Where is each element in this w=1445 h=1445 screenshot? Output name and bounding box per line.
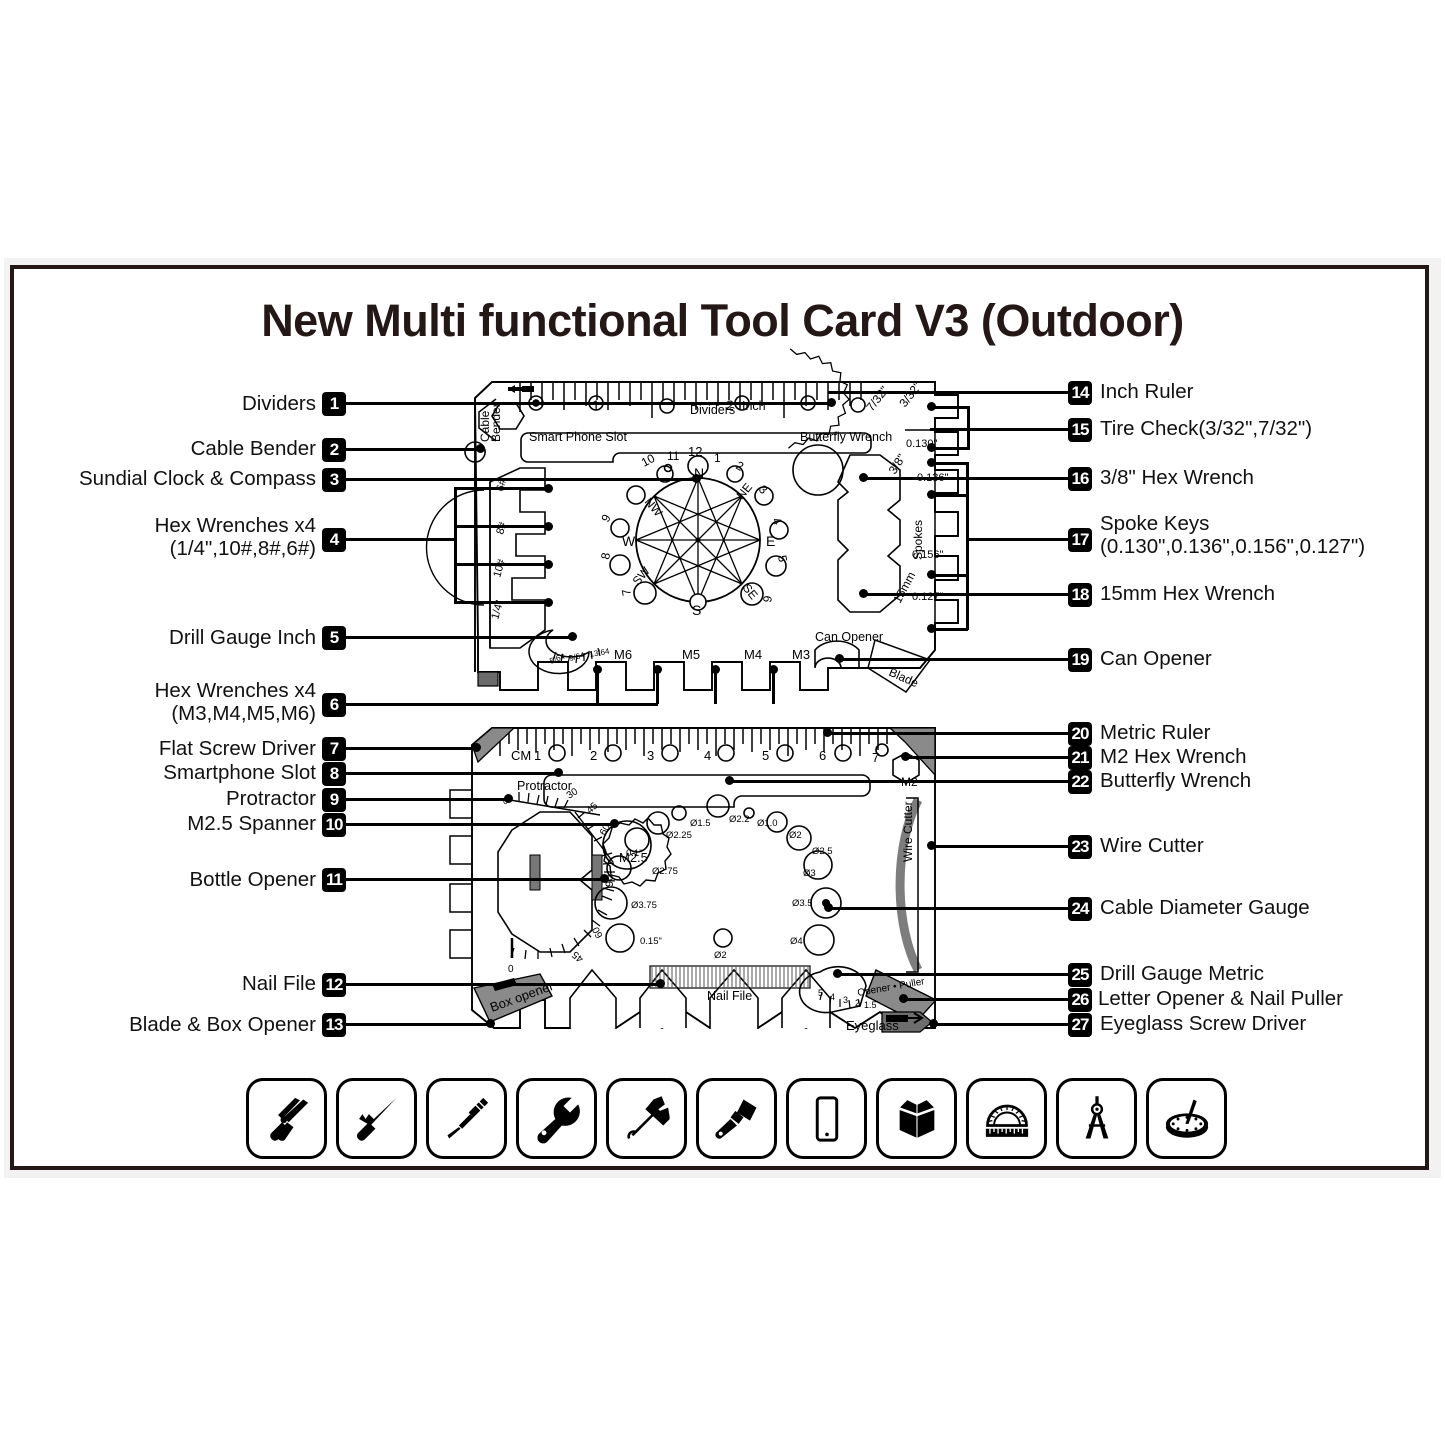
callout-label-15: Tire Check(3/32",7/32") bbox=[1100, 418, 1312, 441]
callout-label-19: Can Opener bbox=[1100, 648, 1212, 671]
callout-badge-14[interactable]: 14 bbox=[1068, 381, 1092, 405]
leader-line-6 bbox=[346, 703, 658, 706]
wrench-icon bbox=[531, 1093, 583, 1145]
icon-screwdriver bbox=[426, 1078, 507, 1159]
callout-label-5: Drill Gauge Inch bbox=[60, 627, 316, 650]
callout-badge-5[interactable]: 5 bbox=[322, 626, 346, 650]
icon-sundial bbox=[1146, 1078, 1227, 1159]
leader-dot-17c bbox=[927, 570, 936, 579]
callout-label-13: Blade & Box Opener bbox=[40, 1014, 316, 1037]
icon-wrench bbox=[516, 1078, 597, 1159]
tool-card-infographic: New Multi functional Tool Card V3 (Outdo… bbox=[0, 0, 1445, 1445]
leader-dot-17a bbox=[927, 458, 936, 467]
leader-dot-25 bbox=[833, 969, 842, 978]
leader-dot-24 bbox=[824, 903, 833, 912]
callout-badge-26[interactable]: 26 bbox=[1068, 988, 1092, 1012]
icon-pliers bbox=[246, 1078, 327, 1159]
callout-badge-27[interactable]: 27 bbox=[1068, 1013, 1092, 1037]
callout-label-4: Hex Wrenches x4 (1/4",10#,8#,6#) bbox=[40, 515, 316, 561]
leader-dot-6b bbox=[653, 665, 662, 674]
dividers-icon bbox=[1071, 1093, 1123, 1145]
leader-line-1 bbox=[346, 402, 830, 405]
callout-badge-22[interactable]: 22 bbox=[1068, 770, 1092, 794]
leader-dot-8 bbox=[554, 768, 563, 777]
leader-dot-4c bbox=[544, 560, 553, 569]
leader-line-4 bbox=[346, 538, 456, 541]
leader-dot-27 bbox=[929, 1019, 938, 1028]
leader-dot-15b bbox=[927, 443, 936, 452]
callout-label-3: Sundial Clock & Compass bbox=[40, 468, 316, 491]
leader-dot-16 bbox=[859, 473, 868, 482]
callout-label-24: Cable Diameter Gauge bbox=[1100, 897, 1310, 920]
leader-line-10 bbox=[346, 823, 614, 826]
leader-dot-20 bbox=[823, 728, 832, 737]
callout-label-20: Metric Ruler bbox=[1100, 722, 1211, 745]
leader-line-17 bbox=[968, 538, 1068, 541]
leader-line-18 bbox=[862, 593, 1068, 596]
leader-dot-17b bbox=[927, 490, 936, 499]
leader-line-15b bbox=[930, 447, 970, 450]
callout-label-11: Bottle Opener bbox=[60, 869, 316, 892]
leader-line-24 bbox=[828, 907, 1068, 910]
knife-icon bbox=[351, 1093, 403, 1145]
callout-badge-18[interactable]: 18 bbox=[1068, 583, 1092, 607]
leader-line-4a bbox=[454, 487, 552, 490]
leader-line-4d bbox=[454, 601, 552, 604]
leader-line-26 bbox=[902, 998, 1068, 1001]
callout-badge-6[interactable]: 6 bbox=[322, 693, 346, 717]
leader-dot-6a bbox=[593, 665, 602, 674]
leader-dot-15a bbox=[927, 402, 936, 411]
callout-label-18: 15mm Hex Wrench bbox=[1100, 583, 1275, 606]
leader-dot-26 bbox=[899, 994, 908, 1003]
icon-open-box bbox=[876, 1078, 957, 1159]
screwdriver-wrench-icon bbox=[621, 1093, 673, 1145]
leader-dot-18 bbox=[859, 589, 868, 598]
leader-line-21 bbox=[904, 756, 1068, 759]
pliers-icon bbox=[261, 1093, 313, 1145]
leader-line-12 bbox=[346, 983, 660, 986]
icon-protractor bbox=[966, 1078, 1047, 1159]
leader-line-8 bbox=[346, 772, 558, 775]
callout-badge-13[interactable]: 13 bbox=[322, 1013, 346, 1037]
callout-label-17: Spoke Keys (0.130",0.136",0.156",0.127") bbox=[1100, 513, 1365, 559]
callout-badge-2[interactable]: 2 bbox=[322, 438, 346, 462]
callout-badge-16[interactable]: 16 bbox=[1068, 467, 1092, 491]
protractor-icon bbox=[981, 1093, 1033, 1145]
icon-screwdriver-wrench bbox=[606, 1078, 687, 1159]
leader-line-5 bbox=[346, 636, 572, 639]
leader-line-11 bbox=[346, 878, 604, 881]
callout-badge-10[interactable]: 10 bbox=[322, 813, 346, 837]
callout-badge-11[interactable]: 11 bbox=[322, 868, 346, 892]
icon-flashlight bbox=[696, 1078, 777, 1159]
callout-label-26: Letter Opener & Nail Puller bbox=[1098, 988, 1343, 1011]
callout-label-2: Cable Bender bbox=[60, 438, 316, 461]
leader-dot-6d bbox=[769, 665, 778, 674]
callout-badge-4[interactable]: 4 bbox=[322, 528, 346, 552]
callout-badge-12[interactable]: 12 bbox=[322, 973, 346, 997]
leader-line-4b bbox=[454, 525, 552, 528]
callout-label-1: Dividers bbox=[60, 393, 316, 416]
page-title: New Multi functional Tool Card V3 (Outdo… bbox=[0, 295, 1445, 347]
leader-dot-13 bbox=[486, 1019, 495, 1028]
callout-badge-9[interactable]: 9 bbox=[322, 788, 346, 812]
leader-line-2 bbox=[346, 448, 480, 451]
callout-badge-23[interactable]: 23 bbox=[1068, 835, 1092, 859]
leader-line-25 bbox=[836, 973, 1068, 976]
leader-dot-19 bbox=[835, 654, 844, 663]
callout-badge-19[interactable]: 19 bbox=[1068, 648, 1092, 672]
leader-dot-17d bbox=[927, 624, 936, 633]
open-box-icon bbox=[891, 1093, 943, 1145]
callout-badge-17[interactable]: 17 bbox=[1068, 528, 1092, 552]
callout-label-7: Flat Screw Driver bbox=[60, 738, 316, 761]
leader-line-16 bbox=[862, 477, 1068, 480]
callout-label-10: M2.5 Spanner bbox=[60, 813, 316, 836]
callout-label-6: Hex Wrenches x4 (M3,M4,M5,M6) bbox=[40, 680, 316, 726]
callout-badge-7[interactable]: 7 bbox=[322, 737, 346, 761]
callout-label-22: Butterfly Wrench bbox=[1100, 770, 1251, 793]
screwdriver-icon bbox=[441, 1093, 493, 1145]
sundial-icon bbox=[1161, 1093, 1213, 1145]
leader-dot-2 bbox=[476, 444, 485, 453]
leader-line-4-vert bbox=[454, 487, 457, 603]
leader-line-17v bbox=[966, 462, 969, 630]
callout-label-23: Wire Cutter bbox=[1100, 835, 1204, 858]
icon-knife bbox=[336, 1078, 417, 1159]
leader-dot-22 bbox=[725, 776, 734, 785]
leader-line-22 bbox=[728, 780, 1068, 783]
callout-badge-21[interactable]: 21 bbox=[1068, 746, 1092, 770]
icon-dividers bbox=[1056, 1078, 1137, 1159]
callout-label-14: Inch Ruler bbox=[1100, 381, 1193, 404]
leader-dot-6c bbox=[711, 665, 720, 674]
leader-dot-3 bbox=[692, 474, 701, 483]
leader-line-23 bbox=[930, 845, 1068, 848]
leader-line-15 bbox=[930, 428, 1068, 431]
leader-line-9 bbox=[346, 798, 508, 801]
leader-line-15a bbox=[930, 406, 970, 409]
leader-line-13 bbox=[346, 1023, 490, 1026]
leader-dot-9 bbox=[504, 794, 513, 803]
callout-label-27: Eyeglass Screw Driver bbox=[1100, 1013, 1306, 1036]
leader-line-20 bbox=[826, 732, 1068, 735]
leader-dot-11 bbox=[600, 874, 609, 883]
callout-label-9: Protractor bbox=[60, 788, 316, 811]
leader-line-14 bbox=[828, 391, 1068, 394]
smartphone-icon bbox=[801, 1093, 853, 1145]
callout-badge-3[interactable]: 3 bbox=[322, 468, 346, 492]
leader-dot-7 bbox=[472, 743, 481, 752]
leader-dot-12 bbox=[656, 979, 665, 988]
icon-smartphone bbox=[786, 1078, 867, 1159]
leader-line-3 bbox=[346, 478, 696, 481]
callout-label-16: 3/8" Hex Wrench bbox=[1100, 467, 1254, 490]
callout-label-8: Smartphone Slot bbox=[60, 762, 316, 785]
leader-dot-1 bbox=[827, 398, 836, 407]
leader-dot-23 bbox=[927, 841, 936, 850]
callout-label-12: Nail File bbox=[60, 973, 316, 996]
leader-dot-4d bbox=[544, 598, 553, 607]
leader-line-27 bbox=[932, 1023, 1068, 1026]
flashlight-icon bbox=[711, 1093, 763, 1145]
leader-dot-4a bbox=[544, 484, 553, 493]
leader-dot-10 bbox=[610, 819, 619, 828]
callout-badge-25[interactable]: 25 bbox=[1068, 963, 1092, 987]
callout-badge-1[interactable]: 1 bbox=[322, 392, 346, 416]
leader-dot-5 bbox=[568, 632, 577, 641]
callout-badge-20[interactable]: 20 bbox=[1068, 722, 1092, 746]
leader-dot-21 bbox=[901, 752, 910, 761]
leader-line-7 bbox=[346, 747, 476, 750]
callout-badge-15[interactable]: 15 bbox=[1068, 418, 1092, 442]
leader-line-19 bbox=[838, 658, 1068, 661]
leader-line-4c bbox=[454, 563, 552, 566]
callout-label-21: M2 Hex Wrench bbox=[1100, 746, 1247, 769]
callout-label-25: Drill Gauge Metric bbox=[1100, 963, 1264, 986]
leader-dot-4b bbox=[544, 522, 553, 531]
callout-badge-24[interactable]: 24 bbox=[1068, 897, 1092, 921]
callout-badge-8[interactable]: 8 bbox=[322, 762, 346, 786]
leader-line-15v bbox=[967, 406, 970, 450]
